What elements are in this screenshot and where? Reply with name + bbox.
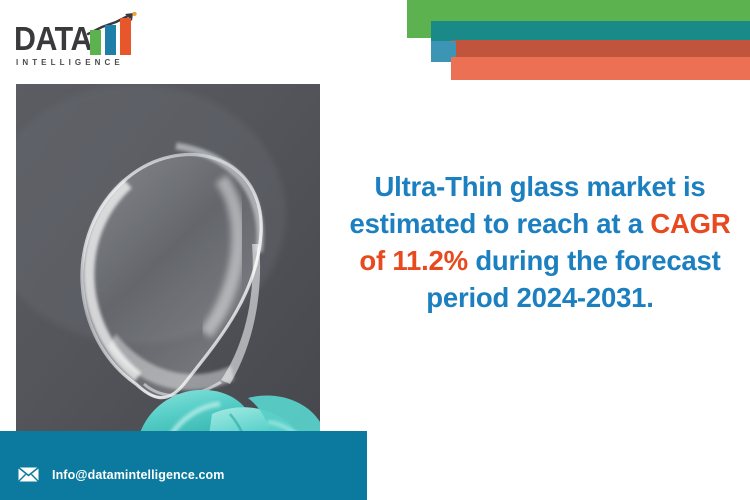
headline-part-2: during the forecast period 2024-2031. — [426, 245, 720, 313]
deco-bar-orange — [451, 57, 750, 80]
envelope-icon — [18, 467, 39, 482]
bar-chart-growth-icon — [86, 12, 138, 56]
footer-bar: Info@datamintelligence.com — [0, 431, 367, 500]
infographic-canvas: DATA INTELLIGENCE — [0, 0, 750, 500]
ultra-thin-glass-photo — [16, 84, 320, 456]
footer-contact[interactable]: Info@datamintelligence.com — [18, 467, 224, 482]
brand-logo[interactable]: DATA INTELLIGENCE — [14, 12, 194, 74]
logo-tagline: INTELLIGENCE — [14, 58, 194, 67]
logo-wordmark: DATA — [14, 22, 92, 56]
deco-bar-dark-orange — [451, 40, 750, 58]
headline-text: Ultra-Thin glass market is estimated to … — [336, 168, 744, 316]
logo-primary-row: DATA — [14, 12, 194, 56]
footer-email[interactable]: Info@datamintelligence.com — [52, 468, 224, 482]
